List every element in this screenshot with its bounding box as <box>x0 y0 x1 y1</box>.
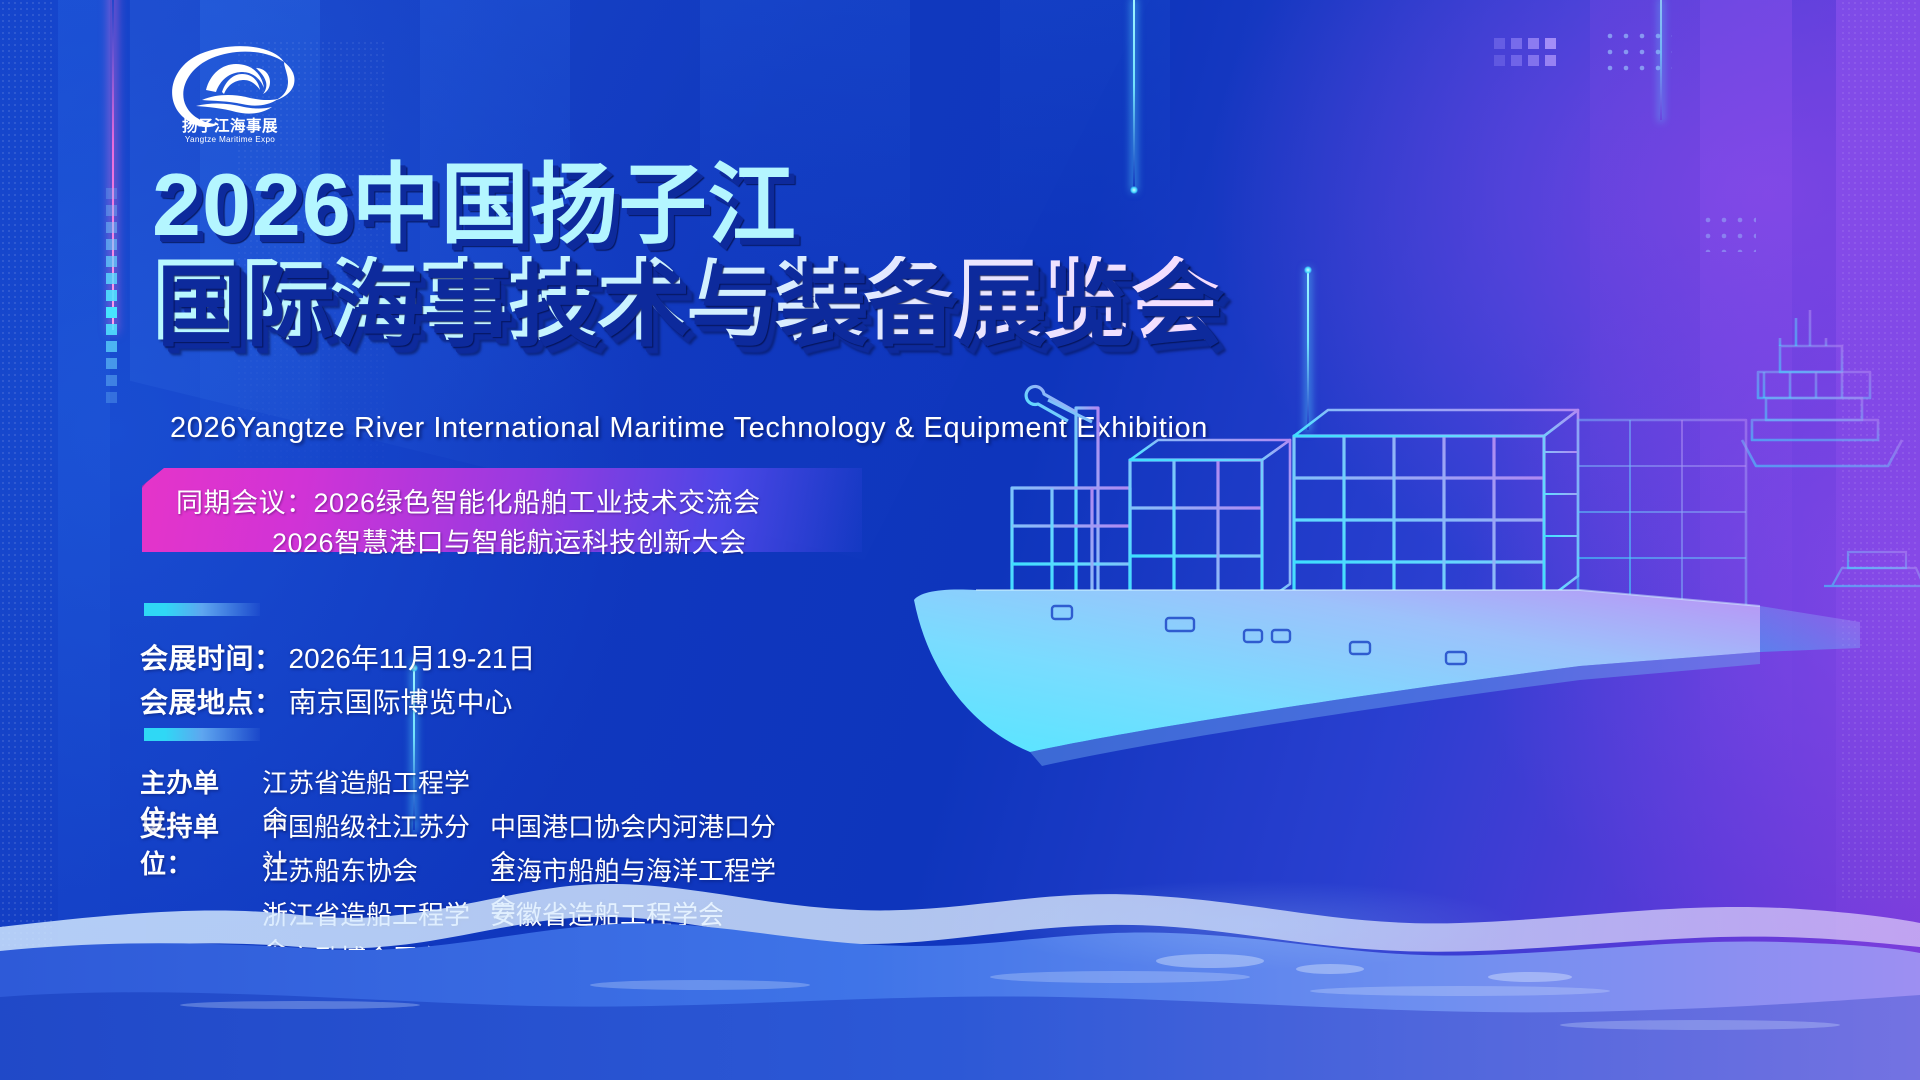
bg-slab-7 <box>1590 0 1700 620</box>
event-venue-value: 南京国际博览中心 <box>289 687 513 718</box>
conference-line-1: 同期会议：2026绿色智能化船舶工业技术交流会 <box>176 481 761 520</box>
square-ladder-right <box>1494 38 1556 49</box>
organizers-block: 主办单位： 江苏省造船工程学会 支持单位： 中国船级社江苏分社 中国港口协会内河… <box>140 763 790 983</box>
glow-line-cyan-right <box>1307 270 1309 430</box>
dot-grid-decoration-2 <box>1700 212 1756 252</box>
bg-slab-2 <box>58 0 110 1080</box>
container-ship-graphic <box>880 300 1920 860</box>
conference-value-1: 2026绿色智能化船舶工业技术交流会 <box>314 488 761 518</box>
logo[interactable]: 扬子江海事展 Yangtze Maritime Expo <box>160 34 300 144</box>
bg-slab-1 <box>0 0 58 1080</box>
divider-bar-organizers <box>144 728 260 741</box>
organizer-label: 承办单位： <box>140 939 262 1013</box>
title-block: 2026中国扬子江 国际海事技术与装备展览会 <box>152 160 1232 346</box>
organizer-value: 南京励博会展有限公司 <box>262 939 490 1013</box>
support-org-2a: 江苏船东协会 <box>262 851 490 888</box>
square-ladder-left <box>106 188 117 403</box>
bg-slab-8 <box>1700 0 1792 760</box>
support-label: 支持单位： <box>140 807 262 881</box>
poster-canvas: 扬子江海事展 Yangtze Maritime Expo 2026中国扬子江 国… <box>0 0 1920 1080</box>
glow-dot-right <box>1304 266 1312 274</box>
host-row: 主办单位： 江苏省造船工程学会 <box>140 763 790 807</box>
ship-reflection <box>980 880 1520 970</box>
title-line-1: 2026中国扬子江 <box>152 160 1232 250</box>
glow-line-cyan-far <box>1660 0 1662 120</box>
event-date-row: 会展时间：2026年11月19-21日 <box>140 637 536 677</box>
halftone-column-left <box>0 0 52 1080</box>
event-venue-label: 会展地点： <box>140 687 283 718</box>
support-row-1: 支持单位： 中国船级社江苏分社 中国港口协会内河港口分会 <box>140 807 790 851</box>
logo-cn-text: 扬子江海事展 <box>182 116 278 135</box>
bg-slab-9 <box>1836 0 1920 1080</box>
event-date-label: 会展时间： <box>140 643 283 674</box>
support-org-3b: 安徽省造船工程学会 <box>490 895 790 932</box>
title-subtitle-english: 2026Yangtze River International Maritime… <box>170 412 1208 445</box>
title-line-2: 国际海事技术与装备展览会 <box>152 256 1232 346</box>
dot-grid-decoration <box>1602 28 1672 80</box>
divider-bar-schedule <box>144 603 260 616</box>
logo-en-text: Yangtze Maritime Expo <box>185 135 275 144</box>
organizer-row: 承办单位： 南京励博会展有限公司 <box>140 939 790 983</box>
conference-label: 同期会议： <box>176 488 314 518</box>
glow-line-pink <box>112 0 114 330</box>
conference-line-2: 2026智慧港口与智能航运科技创新大会 <box>272 521 747 560</box>
halftone-column-right <box>1840 0 1920 900</box>
event-venue-row: 会展地点：南京国际博览中心 <box>140 681 513 721</box>
event-date-value: 2026年11月19-21日 <box>289 643 536 674</box>
wave-icon <box>196 64 278 114</box>
support-row-3: 浙江省造船工程学会 安徽省造船工程学会 <box>140 895 790 939</box>
square-ladder-right-2 <box>1494 55 1556 66</box>
